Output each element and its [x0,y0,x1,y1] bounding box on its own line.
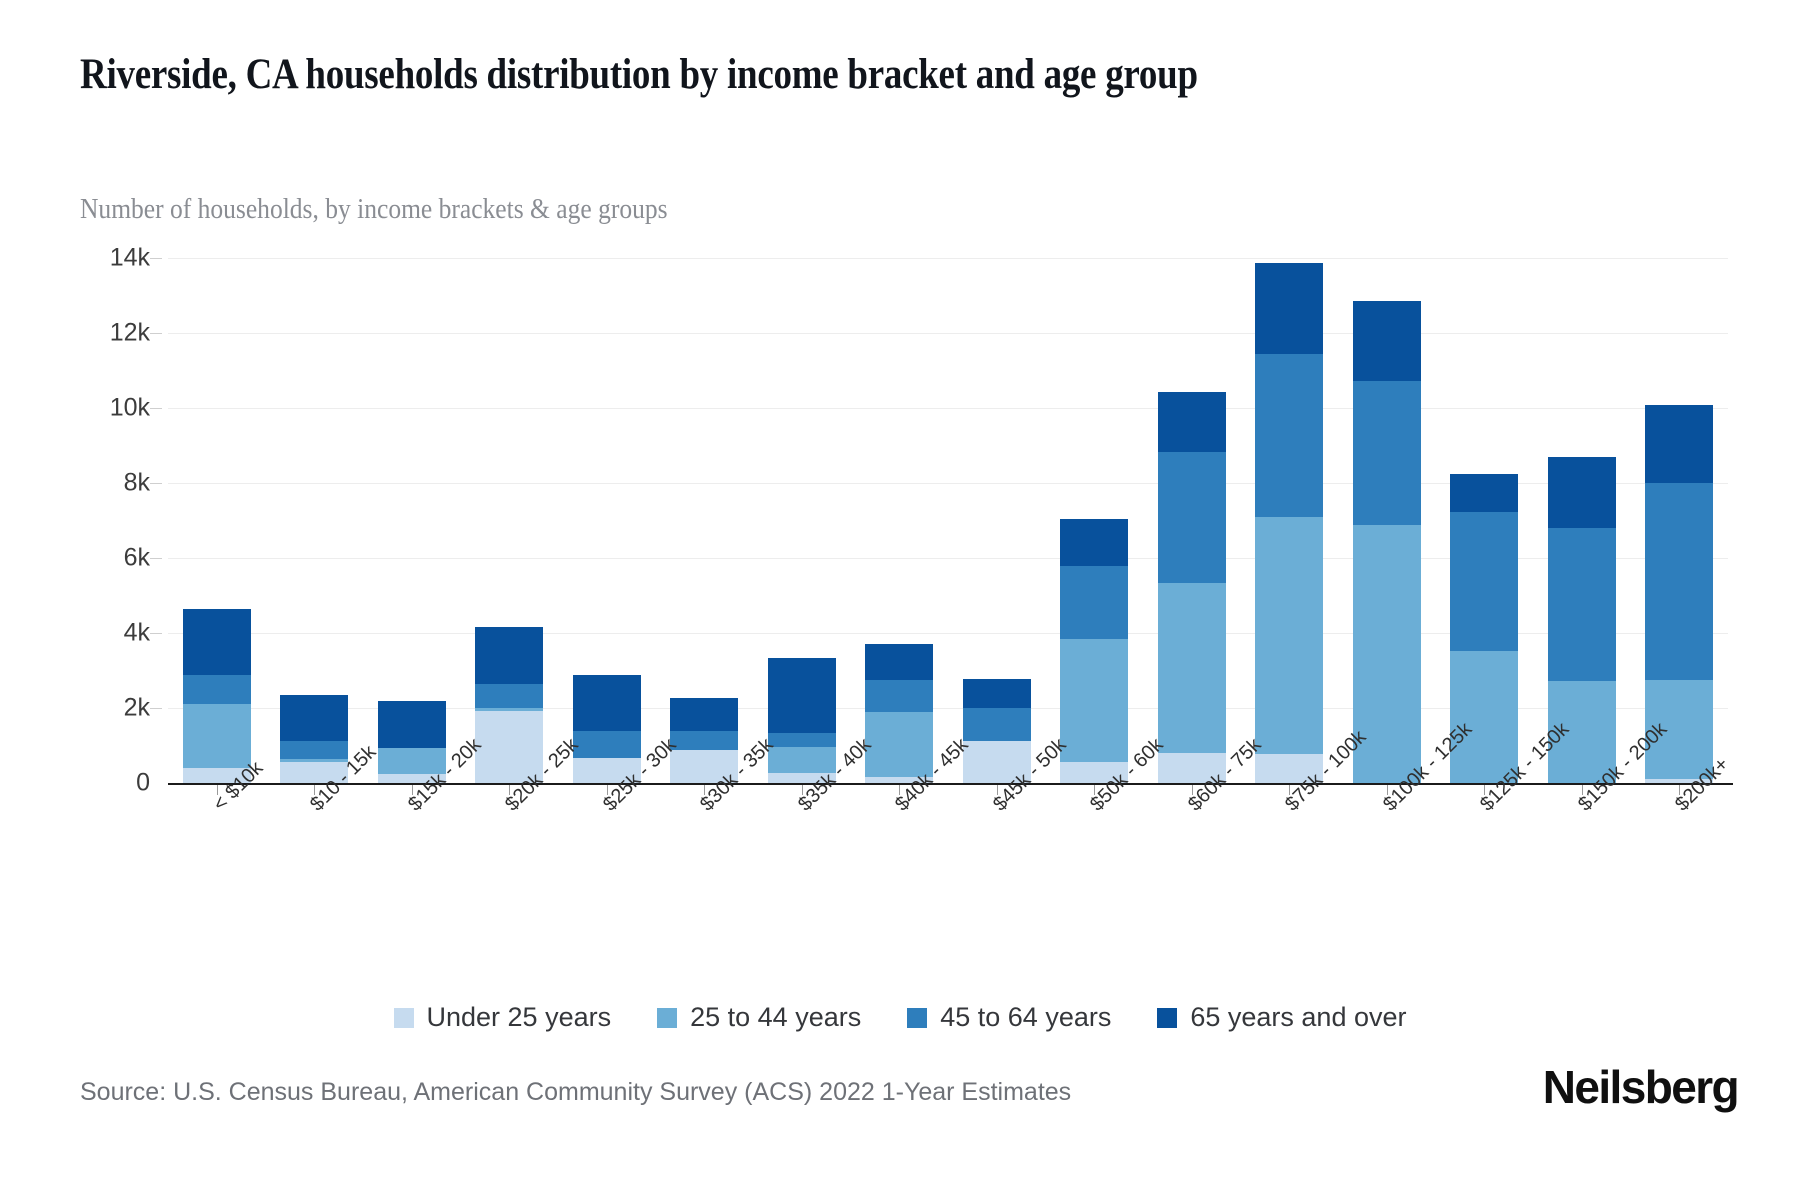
bar-segment[interactable] [475,684,543,708]
y-axis-tick-label: 8k [30,469,150,498]
bar-stack[interactable] [1255,263,1323,783]
legend-label: Under 25 years [427,1002,612,1033]
bar-stack[interactable] [1353,301,1421,783]
gridline [168,258,1728,259]
y-axis-tick-label: 4k [30,619,150,648]
y-axis-tick-label: 10k [30,394,150,423]
bar-segment[interactable] [1255,354,1323,517]
bar-segment[interactable] [1645,405,1713,484]
bar-segment[interactable] [670,698,738,731]
bar-segment[interactable] [670,731,738,750]
bar-segment[interactable] [1060,639,1128,762]
y-axis-tick-label: 2k [30,694,150,723]
legend-swatch-icon [657,1008,677,1028]
legend-item[interactable]: 45 to 64 years [907,1002,1111,1033]
bar-stack[interactable] [183,609,251,783]
legend-swatch-icon [1157,1008,1177,1028]
bar-segment[interactable] [1158,392,1226,453]
source-note: Source: U.S. Census Bureau, American Com… [80,1078,1071,1107]
chart-legend: Under 25 years25 to 44 years45 to 64 yea… [0,1002,1800,1033]
y-tick-mark [150,708,162,709]
legend-item[interactable]: 25 to 44 years [657,1002,861,1033]
bar-segment[interactable] [1353,381,1421,525]
y-tick-mark [150,258,162,259]
y-tick-mark [150,558,162,559]
bar-segment[interactable] [1450,474,1518,512]
chart-page: Riverside, CA households distribution by… [0,0,1800,1200]
y-tick-mark [150,333,162,334]
y-axis-tick-label: 0 [30,769,150,798]
legend-label: 65 years and over [1190,1002,1406,1033]
y-tick-mark [150,408,162,409]
legend-label: 25 to 44 years [690,1002,861,1033]
bar-segment[interactable] [1158,452,1226,583]
bar-segment[interactable] [1353,301,1421,381]
bar-segment[interactable] [865,680,933,713]
bar-segment[interactable] [1255,263,1323,354]
bar-segment[interactable] [475,627,543,684]
bar-stack[interactable] [768,658,836,783]
page-title: Riverside, CA households distribution by… [80,48,1422,102]
bar-segment[interactable] [1645,483,1713,679]
bar-segment[interactable] [183,675,251,704]
bar-segment[interactable] [280,741,348,759]
bar-segment[interactable] [183,704,251,768]
bar-segment[interactable] [963,679,1031,708]
y-axis-tick-label: 14k [30,244,150,273]
bar-segment[interactable] [768,658,836,733]
y-tick-mark [150,483,162,484]
bar-stack[interactable] [1158,392,1226,784]
bar-segment[interactable] [573,731,641,759]
bar-segment[interactable] [963,708,1031,741]
bar-segment[interactable] [280,695,348,742]
gridline [168,408,1728,409]
brand-logo: Neilsberg [1543,1060,1738,1114]
bar-stack[interactable] [865,644,933,783]
legend-swatch-icon [394,1008,414,1028]
bar-stack[interactable] [1060,519,1128,783]
bar-segment[interactable] [768,733,836,747]
bar-segment[interactable] [865,644,933,680]
bar-segment[interactable] [1548,457,1616,528]
legend-item[interactable]: 65 years and over [1157,1002,1406,1033]
bar-segment[interactable] [1158,583,1226,753]
page-subtitle: Number of households, by income brackets… [80,192,1136,227]
legend-label: 45 to 64 years [940,1002,1111,1033]
legend-swatch-icon [907,1008,927,1028]
bar-segment[interactable] [183,609,251,675]
bar-segment[interactable] [1060,519,1128,566]
plot-area: 02k4k6k8k10k12k14k [168,258,1728,783]
y-tick-mark [150,633,162,634]
gridline [168,333,1728,334]
bar-segment[interactable] [1548,528,1616,681]
bar-segment[interactable] [1450,512,1518,652]
bar-segment[interactable] [378,701,446,748]
bar-stack[interactable] [475,627,543,783]
y-axis-tick-label: 12k [30,319,150,348]
bar-segment[interactable] [573,675,641,730]
y-axis-tick-label: 6k [30,544,150,573]
bar-segment[interactable] [1060,566,1128,639]
bar-segment[interactable] [1255,517,1323,754]
legend-item[interactable]: Under 25 years [394,1002,612,1033]
